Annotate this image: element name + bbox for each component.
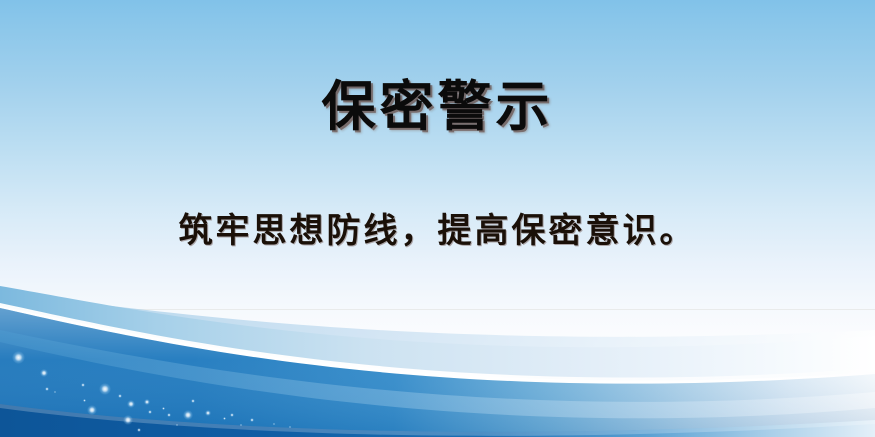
text-layer: 保密警示 筑牢思想防线，提高保密意识。 bbox=[0, 0, 875, 437]
slide-canvas: 保密警示 筑牢思想防线，提高保密意识。 bbox=[0, 0, 875, 437]
page-subtitle: 筑牢思想防线，提高保密意识。 bbox=[0, 207, 875, 255]
page-title: 保密警示 bbox=[0, 75, 875, 139]
